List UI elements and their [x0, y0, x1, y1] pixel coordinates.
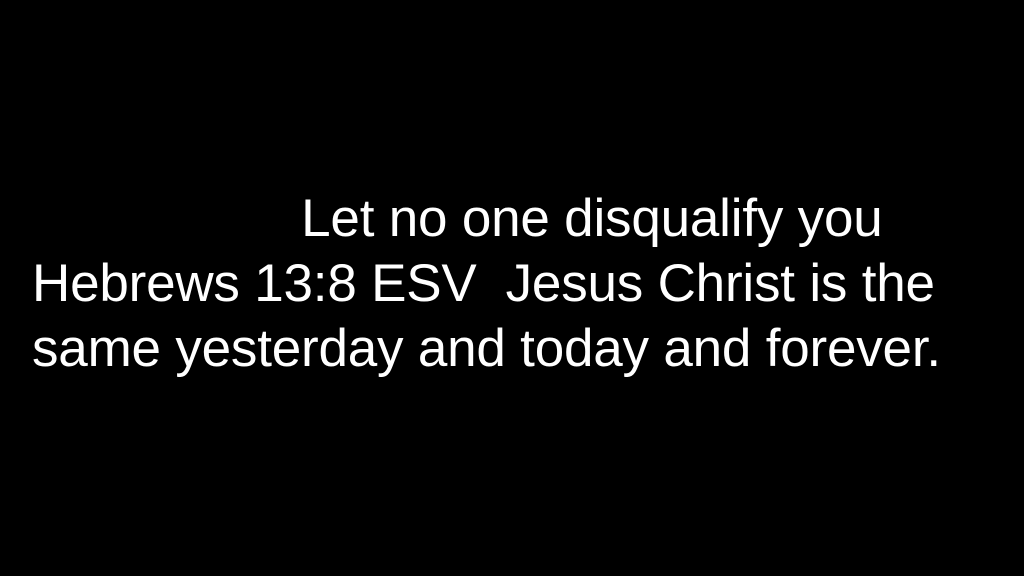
caption-line-1: Let no one disqualify you [32, 186, 1024, 251]
caption-block: Let no one disqualify you Hebrews 13:8 E… [0, 186, 1024, 381]
caption-line-3: same yesterday and today and forever. [32, 316, 1024, 381]
caption-line-2: Hebrews 13:8 ESV Jesus Christ is the [32, 251, 1024, 316]
slide-canvas: Let no one disqualify you Hebrews 13:8 E… [0, 0, 1024, 576]
